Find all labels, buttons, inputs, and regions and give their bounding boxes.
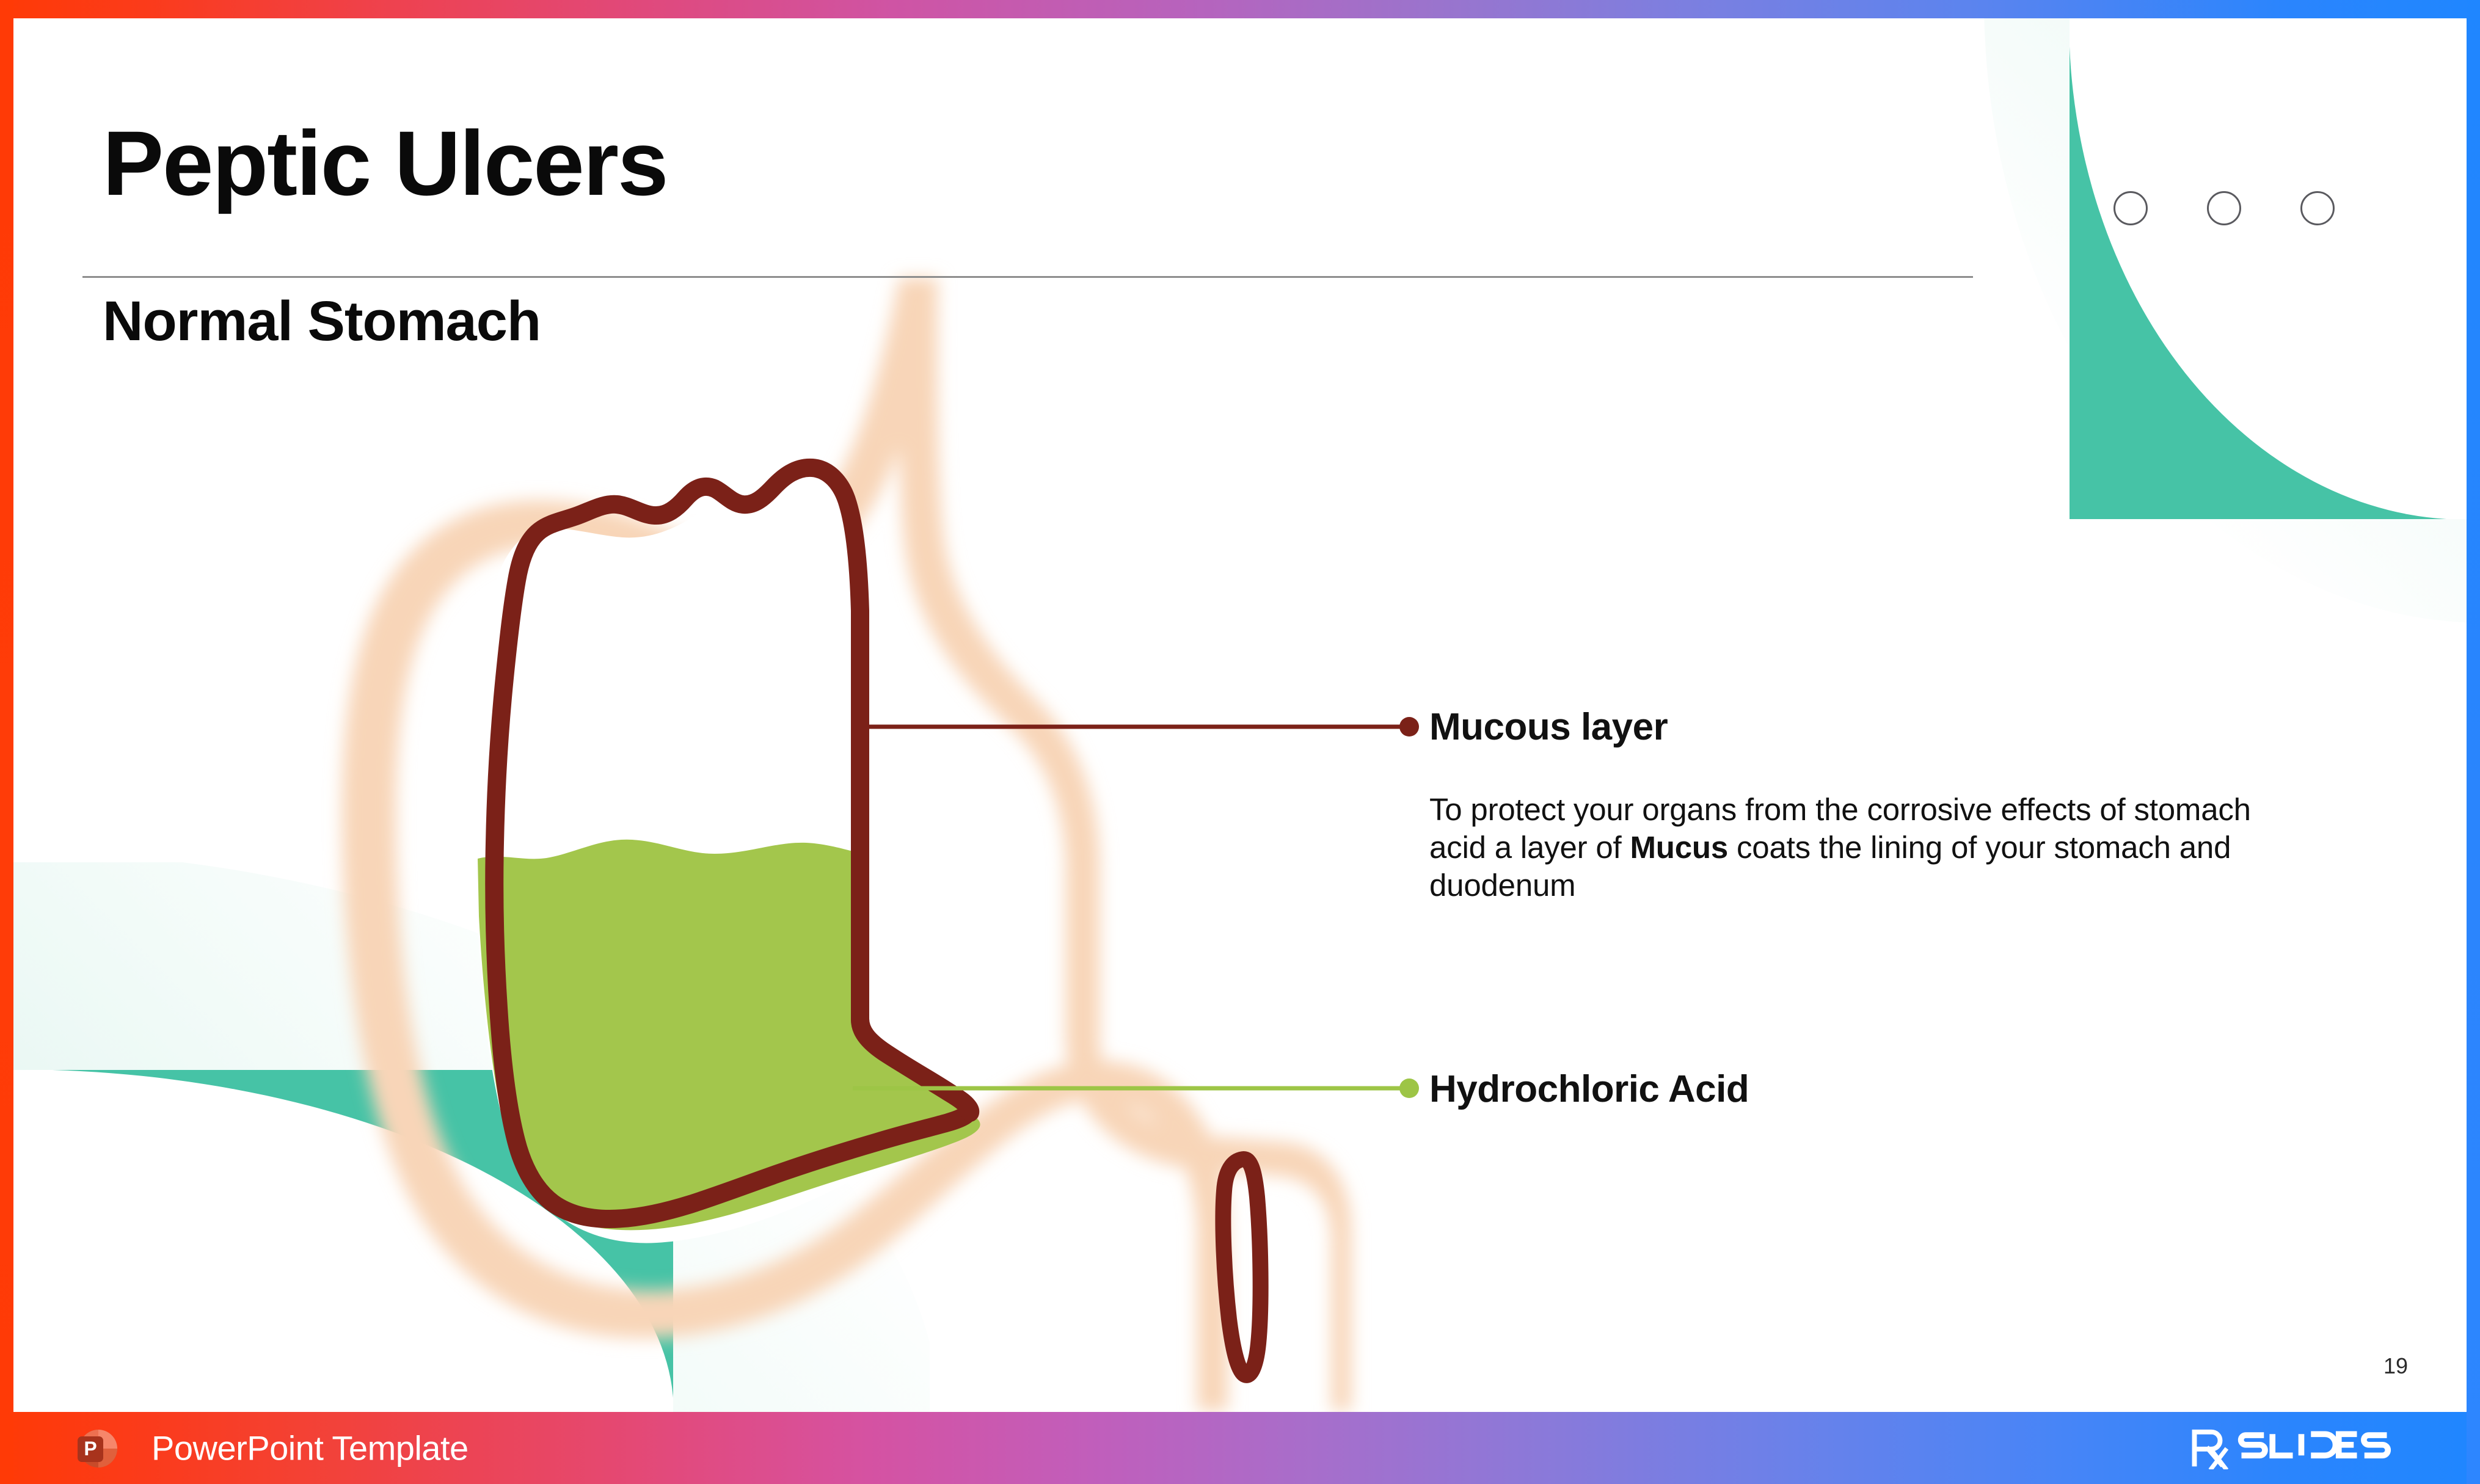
powerpoint-icon: P (73, 1426, 119, 1471)
footer-app-label: PowerPoint Template (151, 1428, 469, 1468)
rxslides-logo-icon[interactable] (2188, 1427, 2402, 1469)
slide-canvas: Peptic Ulcers Normal Stomach Mucous laye… (0, 0, 2480, 1484)
left-gradient-border (0, 0, 13, 1484)
indicator-circle-1-icon[interactable] (2113, 191, 2148, 225)
svg-text:P: P (84, 1438, 97, 1460)
bottom-left-teal-corner (13, 1070, 673, 1412)
callout-label-hydrochloric-acid: Hydrochloric Acid (1429, 1068, 1749, 1111)
indicator-circle-2-icon[interactable] (2207, 191, 2241, 225)
callout-body-mucous-layer: To protect your organs from the corrosiv… (1429, 791, 2285, 905)
footer-bar: P PowerPoint Template (0, 1412, 2480, 1484)
right-gradient-border (2467, 0, 2480, 1484)
callout-body-bold-mucus: Mucus (1630, 830, 1728, 865)
header-divider (82, 276, 1973, 278)
indicator-dots (2113, 191, 2335, 225)
callout-label-mucous-layer: Mucous layer (1429, 705, 1668, 749)
page-number: 19 (2383, 1353, 2408, 1379)
pylorus-lining (860, 1020, 970, 1113)
top-right-teal-corner (2070, 18, 2467, 519)
top-gradient-border (0, 0, 2480, 18)
leader-line-hcl (853, 1078, 1419, 1098)
leader-line-mucous (860, 717, 1419, 737)
page-title: Peptic Ulcers (103, 117, 667, 209)
duodenum-lining (1223, 1159, 1260, 1375)
indicator-circle-3-icon[interactable] (2300, 191, 2335, 225)
section-title: Normal Stomach (103, 293, 541, 349)
